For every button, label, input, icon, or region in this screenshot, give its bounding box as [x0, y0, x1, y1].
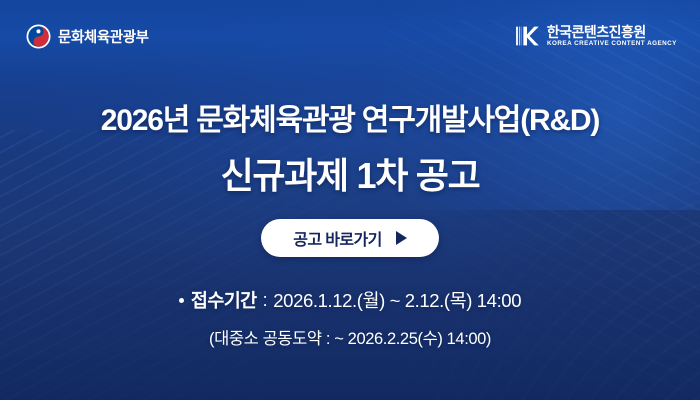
taegeuk-icon: [26, 24, 51, 49]
joint-program-note: (대중소 공동도약 : ~ 2026.2.25(수) 14:00): [209, 325, 491, 349]
announcement-banner: 문화체육관광부 한국콘텐츠진흥원 KOREA CREATIVE CONTENT …: [0, 0, 700, 400]
banner-header: 문화체육관광부 한국콘텐츠진흥원 KOREA CREATIVE CONTENT …: [0, 0, 700, 72]
play-triangle-icon: [396, 231, 407, 245]
agency-logo[interactable]: 한국콘텐츠진흥원 KOREA CREATIVE CONTENT AGENCY: [514, 23, 674, 49]
application-period-label: 접수기간: [191, 287, 257, 313]
kocca-k-icon: [514, 23, 540, 49]
background-diagonal-stripes-left: [0, 130, 390, 400]
agency-name-en: KOREA CREATIVE CONTENT AGENCY: [547, 41, 677, 47]
application-period-value: 2026.1.12.(월) ~ 2.12.(목) 14:00: [273, 287, 521, 313]
ministry-logo[interactable]: 문화체육관광부: [26, 24, 149, 49]
go-to-announcement-label: 공고 바로가기: [293, 226, 382, 250]
headline-line-1: 2026년 문화체육관광 연구개발사업(R&D): [101, 95, 599, 139]
application-period-separator: :: [263, 290, 268, 311]
headline-line-2: 신규과제 1차 공고: [221, 147, 480, 199]
agency-logo-text: 한국콘텐츠진흥원 KOREA CREATIVE CONTENT AGENCY: [547, 25, 674, 48]
go-to-announcement-button[interactable]: 공고 바로가기: [261, 219, 439, 257]
background-diagonal-stripes-right: [380, 20, 700, 400]
agency-name-ko: 한국콘텐츠진흥원: [547, 25, 646, 39]
background-arc-stripes: [330, 120, 700, 400]
application-period-row: 접수기간 : 2026.1.12.(월) ~ 2.12.(목) 14:00: [179, 287, 521, 313]
ministry-logo-label: 문화체육관광부: [58, 26, 149, 47]
bullet-dot-icon: [179, 298, 184, 303]
